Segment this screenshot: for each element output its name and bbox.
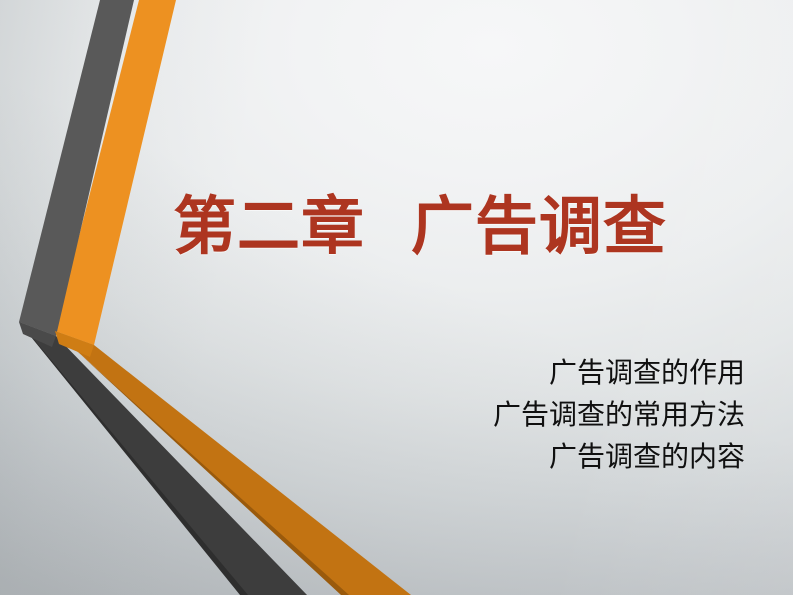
background-shading-horizontal: [0, 0, 793, 595]
gray-ribbon-lower-edge: [19, 322, 248, 595]
slide-canvas: 第二章 广告调查 广告调查的作用 广告调查的常用方法 广告调查的内容: [0, 0, 793, 595]
orange-ribbon-fold-facet: [55, 331, 94, 357]
chevron-decoration: [0, 0, 793, 595]
subtitle-line-2: 广告调查的常用方法: [275, 394, 745, 436]
gray-ribbon-fold-facet: [19, 322, 56, 347]
slide-subtitle-block: 广告调查的作用 广告调查的常用方法 广告调查的内容: [275, 352, 745, 478]
slide-title: 第二章 广告调查: [120, 192, 720, 263]
subtitle-line-3: 广告调查的内容: [275, 436, 745, 478]
subtitle-line-1: 广告调查的作用: [275, 352, 745, 394]
orange-ribbon-upper: [55, 0, 176, 345]
background-shading-diagonal: [0, 0, 793, 595]
gray-ribbon-lower: [19, 322, 307, 595]
gray-ribbon-upper: [19, 0, 134, 336]
